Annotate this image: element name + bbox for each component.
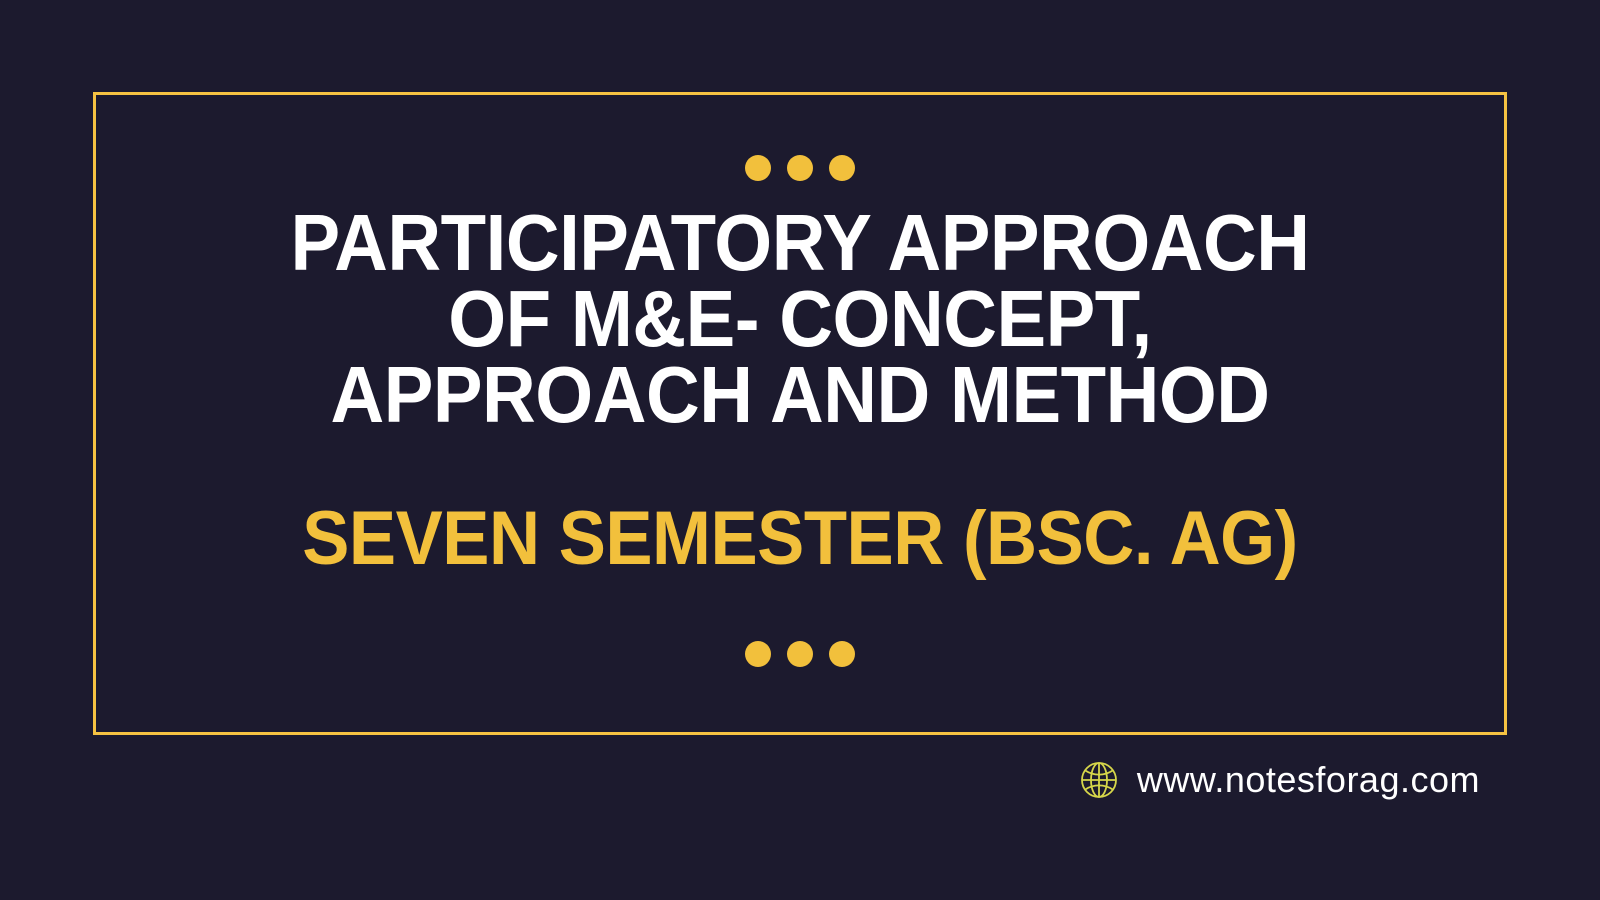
- dot-1-icon: [745, 155, 771, 181]
- three-dots-ornament-top: [745, 155, 855, 181]
- page-subtitle: SEVEN SEMESTER (BSC. AG): [93, 501, 1507, 577]
- slide-content: PARTICIPATORY APPROACH OF M&E- CONCEPT, …: [93, 92, 1507, 735]
- dot-4-icon: [745, 641, 771, 667]
- dot-6-icon: [829, 641, 855, 667]
- dot-5-icon: [787, 641, 813, 667]
- subtitle-line-1: SEVEN SEMESTER (BSC. AG): [142, 501, 1457, 577]
- title-line-2: OF M&E- CONCEPT,: [142, 281, 1457, 357]
- three-dots-ornament-bottom: [745, 641, 855, 667]
- dot-2-icon: [787, 155, 813, 181]
- title-line-3: APPROACH AND METHOD: [142, 357, 1457, 433]
- page-title: PARTICIPATORY APPROACH OF M&E- CONCEPT, …: [93, 205, 1507, 433]
- title-slide: PARTICIPATORY APPROACH OF M&E- CONCEPT, …: [0, 0, 1600, 900]
- website-url-text: www.notesforag.com: [1137, 762, 1480, 798]
- dot-3-icon: [829, 155, 855, 181]
- title-line-1: PARTICIPATORY APPROACH: [142, 205, 1457, 281]
- website-footer: www.notesforag.com: [1079, 760, 1480, 800]
- globe-icon: [1079, 760, 1119, 800]
